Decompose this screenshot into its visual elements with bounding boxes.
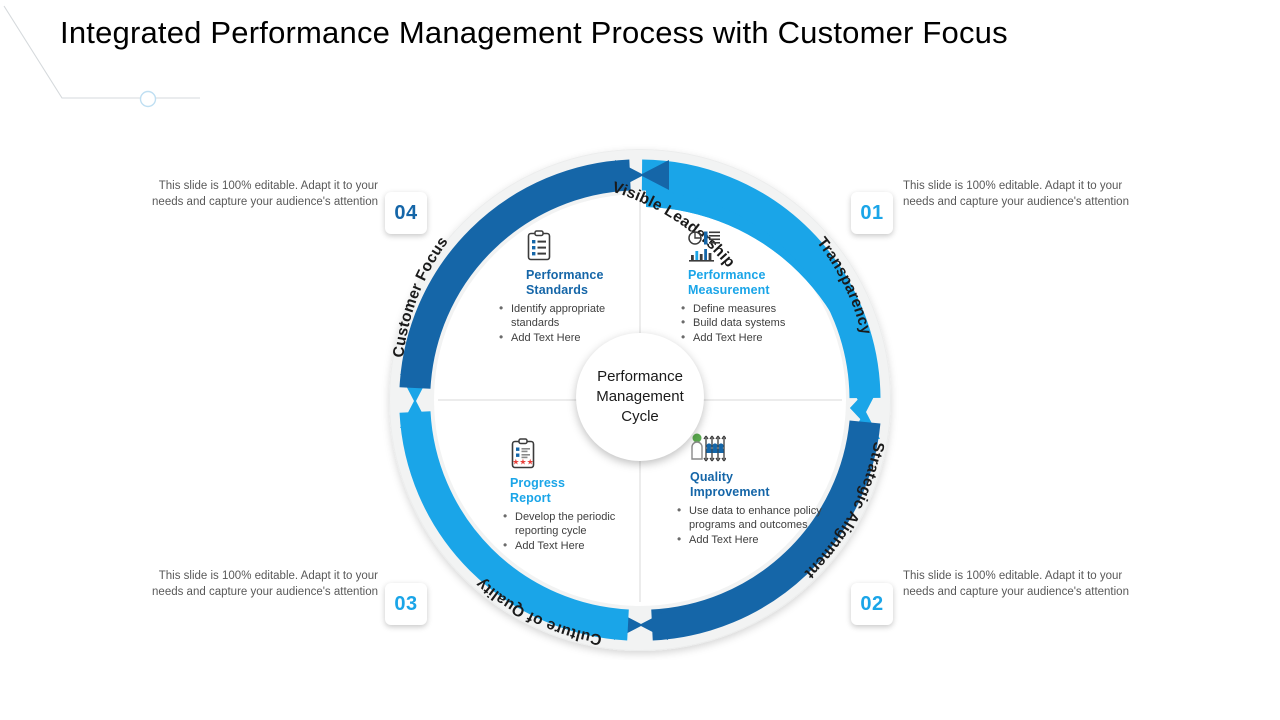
list-item: Add Text Here xyxy=(676,533,828,547)
quad-title-line1: Progress xyxy=(510,476,565,490)
slide-canvas: Integrated Performance Management Proces… xyxy=(0,0,1280,720)
quad-title-line1: Performance xyxy=(688,268,766,282)
list-item: Add Text Here xyxy=(680,331,832,345)
quadrant-performance-standards[interactable]: Performance Standards Identify appropria… xyxy=(498,230,650,345)
quad-title-line2: Standards xyxy=(526,283,588,297)
list-item: Develop the periodic reporting cycle xyxy=(502,510,654,539)
quad-title-line1: Performance xyxy=(526,268,604,282)
quadrant-quality-improvement[interactable]: Quality Improvement Use data to enhance … xyxy=(676,432,828,547)
quad-title-line2: Measurement xyxy=(688,283,770,297)
quadrant-bullets-quality-improvement: Use data to enhance policy programs and … xyxy=(676,504,828,547)
cycle-diagram: Visible Leadership Transparency Strategi… xyxy=(380,140,900,660)
list-item: Add Text Here xyxy=(502,539,654,553)
quadrant-title-progress-report: Progress Report xyxy=(510,476,654,506)
hub-line-1: Performance xyxy=(597,368,683,385)
note-text-02: This slide is 100% editable. Adapt it to… xyxy=(903,568,1133,600)
people-improvement-icon xyxy=(690,432,828,466)
list-item: Build data systems xyxy=(680,316,832,330)
center-hub[interactable]: Performance Management Cycle xyxy=(576,333,704,461)
center-hub-label: Performance Management Cycle xyxy=(596,367,684,427)
hub-line-3: Cycle xyxy=(621,408,659,425)
quad-title-line2: Improvement xyxy=(690,485,770,499)
quad-title-line1: Quality xyxy=(690,470,733,484)
quadrant-performance-measurement[interactable]: Performance Measurement Define measures … xyxy=(680,230,832,345)
quadrant-bullets-progress-report: Develop the periodic reporting cycle Add… xyxy=(502,510,654,553)
quadrant-title-performance-measurement: Performance Measurement xyxy=(688,268,832,298)
analytics-chart-icon xyxy=(688,230,832,264)
quad-title-line2: Report xyxy=(510,491,551,505)
note-text-04: This slide is 100% editable. Adapt it to… xyxy=(148,178,378,210)
hub-line-2: Management xyxy=(596,388,684,405)
note-text-01: This slide is 100% editable. Adapt it to… xyxy=(903,178,1133,210)
list-item: Define measures xyxy=(680,302,832,316)
page-title: Integrated Performance Management Proces… xyxy=(60,12,1060,54)
quadrant-title-performance-standards: Performance Standards xyxy=(526,268,650,298)
list-item: Use data to enhance policy programs and … xyxy=(676,504,828,533)
clipboard-checklist-icon xyxy=(526,230,650,264)
svg-text:★★★: ★★★ xyxy=(512,458,534,467)
quadrant-bullets-performance-measurement: Define measures Build data systems Add T… xyxy=(680,302,832,345)
note-text-03: This slide is 100% editable. Adapt it to… xyxy=(148,568,378,600)
list-item: Identify appropriate standards xyxy=(498,302,650,331)
quadrant-title-quality-improvement: Quality Improvement xyxy=(690,470,828,500)
